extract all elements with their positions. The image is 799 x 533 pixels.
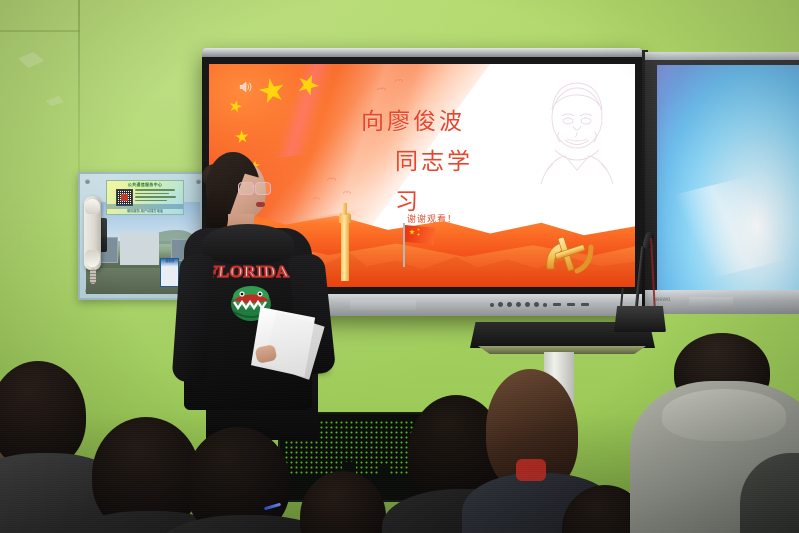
eyeglass-lens-left (238, 182, 254, 195)
secondary-display-plate (689, 297, 733, 306)
control-button[interactable] (498, 302, 503, 307)
panel-screw-tl (85, 179, 90, 184)
dove-icon (377, 86, 384, 90)
dove-icon (343, 190, 350, 194)
control-button[interactable] (490, 303, 494, 307)
poster-line (135, 196, 176, 198)
presenter-lips (256, 202, 265, 207)
hdmi-port[interactable] (567, 303, 575, 306)
audience-head (300, 471, 386, 533)
microphone-cable (650, 238, 656, 312)
service-center-poster: 公共通信服务中心 便民服务 用户请拨打电话 (106, 180, 184, 215)
wall-seam-horizontal (0, 30, 80, 32)
usb-port[interactable] (553, 303, 561, 306)
smartboard-top-trim (202, 48, 642, 57)
classroom-scene: 服务牌 公共通信服务中心 便民服务 用户请拨打电话 seewo (0, 0, 799, 533)
small-red-flag (405, 225, 435, 245)
hoodie-hood (202, 224, 294, 264)
audience-red-scarf (516, 459, 546, 481)
poster-text-lines (135, 189, 180, 203)
monument-tip (343, 203, 347, 215)
poster-line (135, 193, 169, 195)
speaker-volume-icon (239, 80, 253, 92)
slide-title-line-3: 习 (395, 182, 421, 216)
audience-shoulders (740, 453, 799, 533)
control-button[interactable] (516, 302, 521, 307)
slide-title-line-2: 同志学 (395, 142, 473, 176)
audience-member (740, 413, 799, 533)
small-flagpole (403, 223, 405, 267)
control-button[interactable] (543, 303, 547, 307)
hammer-and-sickle-emblem (541, 231, 597, 277)
aux-port[interactable] (581, 303, 589, 306)
secondary-display-top-trim (645, 52, 799, 60)
eyeglass-lens-right (255, 182, 271, 195)
poster-title: 公共通信服务中心 (107, 182, 183, 188)
poster-line (135, 189, 175, 191)
slide-title-line-1: 向廖俊波 (361, 102, 465, 136)
eyeglass-bridge (251, 186, 256, 187)
control-button[interactable] (525, 302, 530, 307)
poster-line (135, 200, 167, 202)
secondary-display-bottom-trim: seewo (645, 290, 799, 314)
monument-graphic (337, 203, 353, 281)
liao-junbo-portrait-sketch (535, 74, 619, 184)
poster-footer-text: 便民服务 用户请拨打电话 (107, 208, 183, 213)
photo-building-center (120, 233, 159, 264)
flag-star-mini (417, 233, 420, 236)
gooseneck-microphone[interactable] (628, 232, 668, 342)
eyeglasses (238, 182, 270, 194)
smartboard-label-plate (350, 300, 416, 310)
secondary-display-screen[interactable] (657, 65, 799, 290)
microphone-base (614, 306, 666, 332)
flag-star-mini (417, 228, 420, 231)
dove-icon (327, 176, 334, 180)
student-presenter: FLORIDA (176, 150, 326, 410)
smartboard-control-row[interactable] (490, 302, 589, 307)
telephone-cord (90, 268, 96, 284)
flag-star-mini (409, 229, 415, 235)
microphone-gooseneck[interactable] (635, 246, 644, 308)
secondary-display[interactable]: seewo (645, 52, 799, 314)
dove-icon (395, 78, 402, 82)
telephone-handset[interactable] (84, 196, 101, 270)
wall-telephone[interactable] (84, 196, 104, 282)
monument-shaft (341, 219, 349, 281)
control-button[interactable] (534, 302, 539, 307)
control-button[interactable] (507, 302, 512, 307)
